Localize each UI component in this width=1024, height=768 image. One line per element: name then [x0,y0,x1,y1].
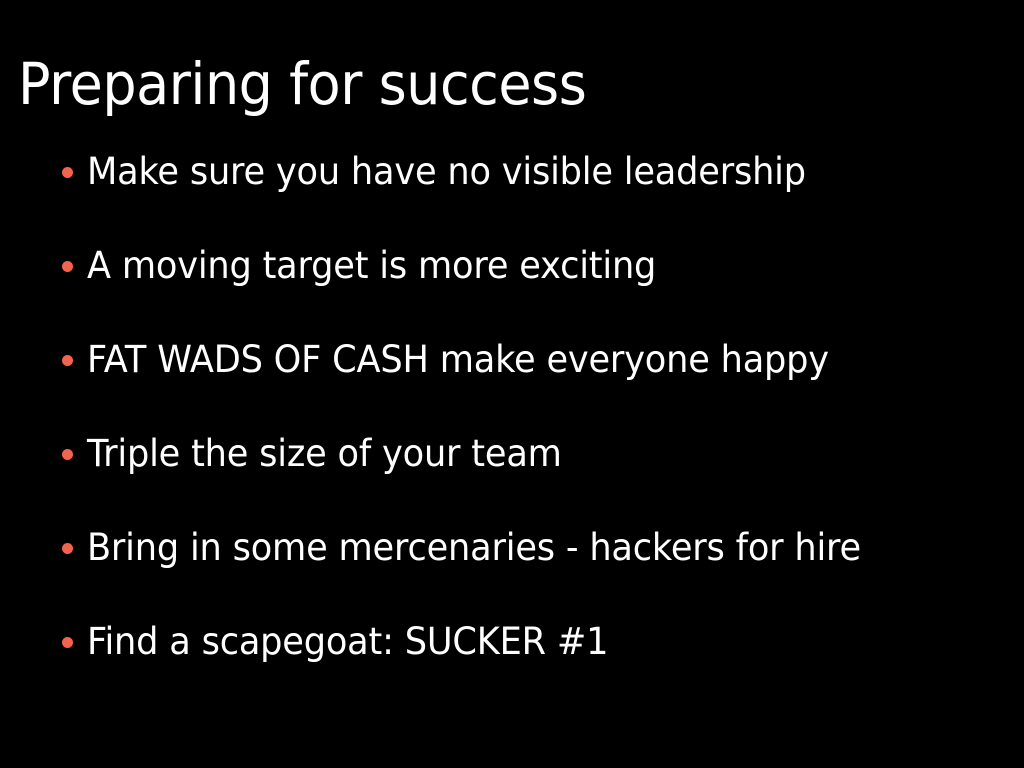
list-item: Bring in some mercenaries - hackers for … [0,501,1024,595]
filled-circle-bullet-icon [62,637,73,648]
list-item-label: Make sure you have no visible leadership [87,151,806,194]
bullet-list: Make sure you have no visible leadership… [0,125,1024,689]
list-item: FAT WADS OF CASH make everyone happy [0,313,1024,407]
list-item-label: Triple the size of your team [87,433,562,476]
list-item: Make sure you have no visible leadership [0,125,1024,219]
filled-circle-bullet-icon [62,355,73,366]
slide-title: Preparing for success [18,53,937,117]
filled-circle-bullet-icon [62,261,73,272]
presentation-slide: Preparing for success Make sure you have… [0,0,1024,768]
list-item: Find a scapegoat: SUCKER #1 [0,595,1024,689]
list-item-label: A moving target is more exciting [87,245,656,288]
list-item-label: Bring in some mercenaries - hackers for … [87,527,861,570]
list-item: A moving target is more exciting [0,219,1024,313]
list-item-label: FAT WADS OF CASH make everyone happy [87,339,829,382]
list-item-label: Find a scapegoat: SUCKER #1 [87,621,608,664]
filled-circle-bullet-icon [62,167,73,178]
filled-circle-bullet-icon [62,543,73,554]
filled-circle-bullet-icon [62,449,73,460]
list-item: Triple the size of your team [0,407,1024,501]
